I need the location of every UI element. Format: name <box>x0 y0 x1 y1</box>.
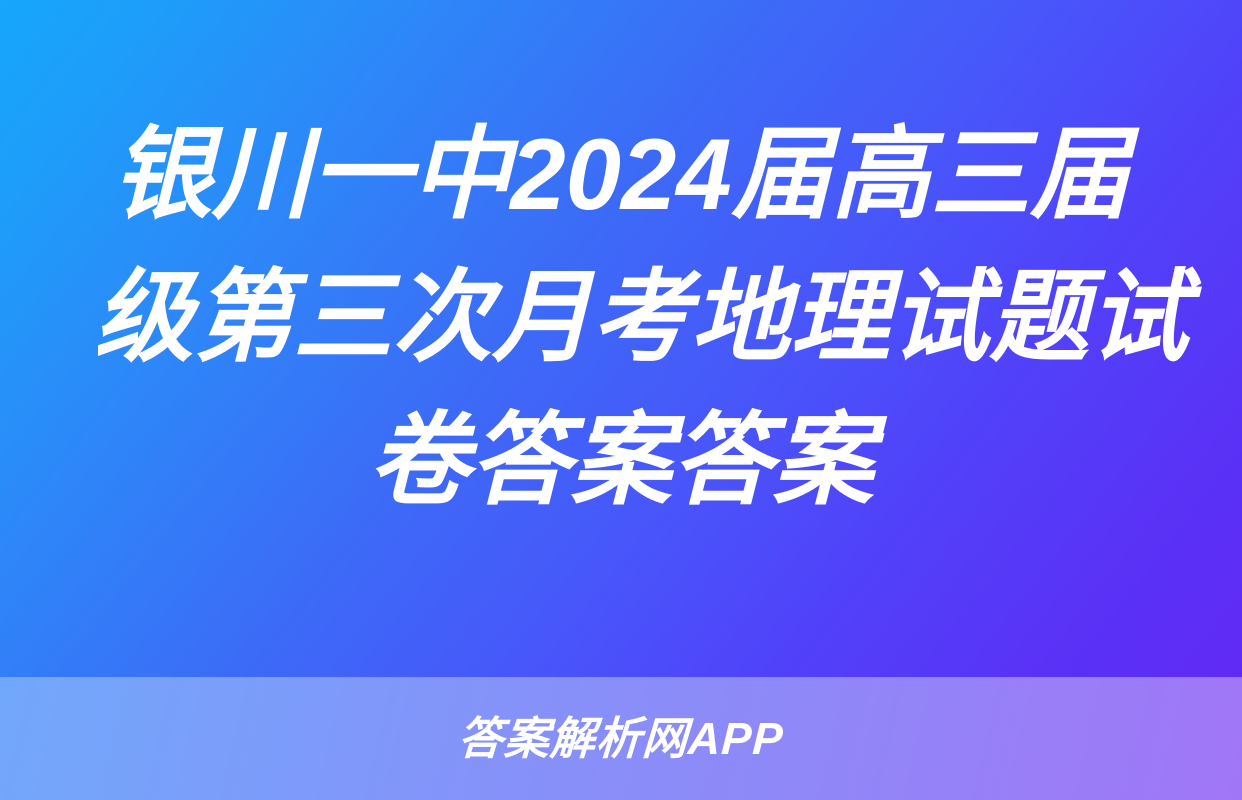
headline-line-2: 级第三次月考地理试题试 <box>94 247 1148 390</box>
headline-block: 银川一中2024届高三届 级第三次月考地理试题试 卷答案答案 <box>0 0 1242 677</box>
headline-line-3: 卷答案答案 <box>86 390 1156 533</box>
headline-line-1: 银川一中2024届高三届 <box>94 104 1148 247</box>
exam-paper-banner: 银川一中2024届高三届 级第三次月考地理试题试 卷答案答案 答案解析网APP <box>0 0 1242 800</box>
watermark-text: 答案解析网APP <box>457 716 785 761</box>
watermark-band: 答案解析网APP <box>0 677 1242 800</box>
